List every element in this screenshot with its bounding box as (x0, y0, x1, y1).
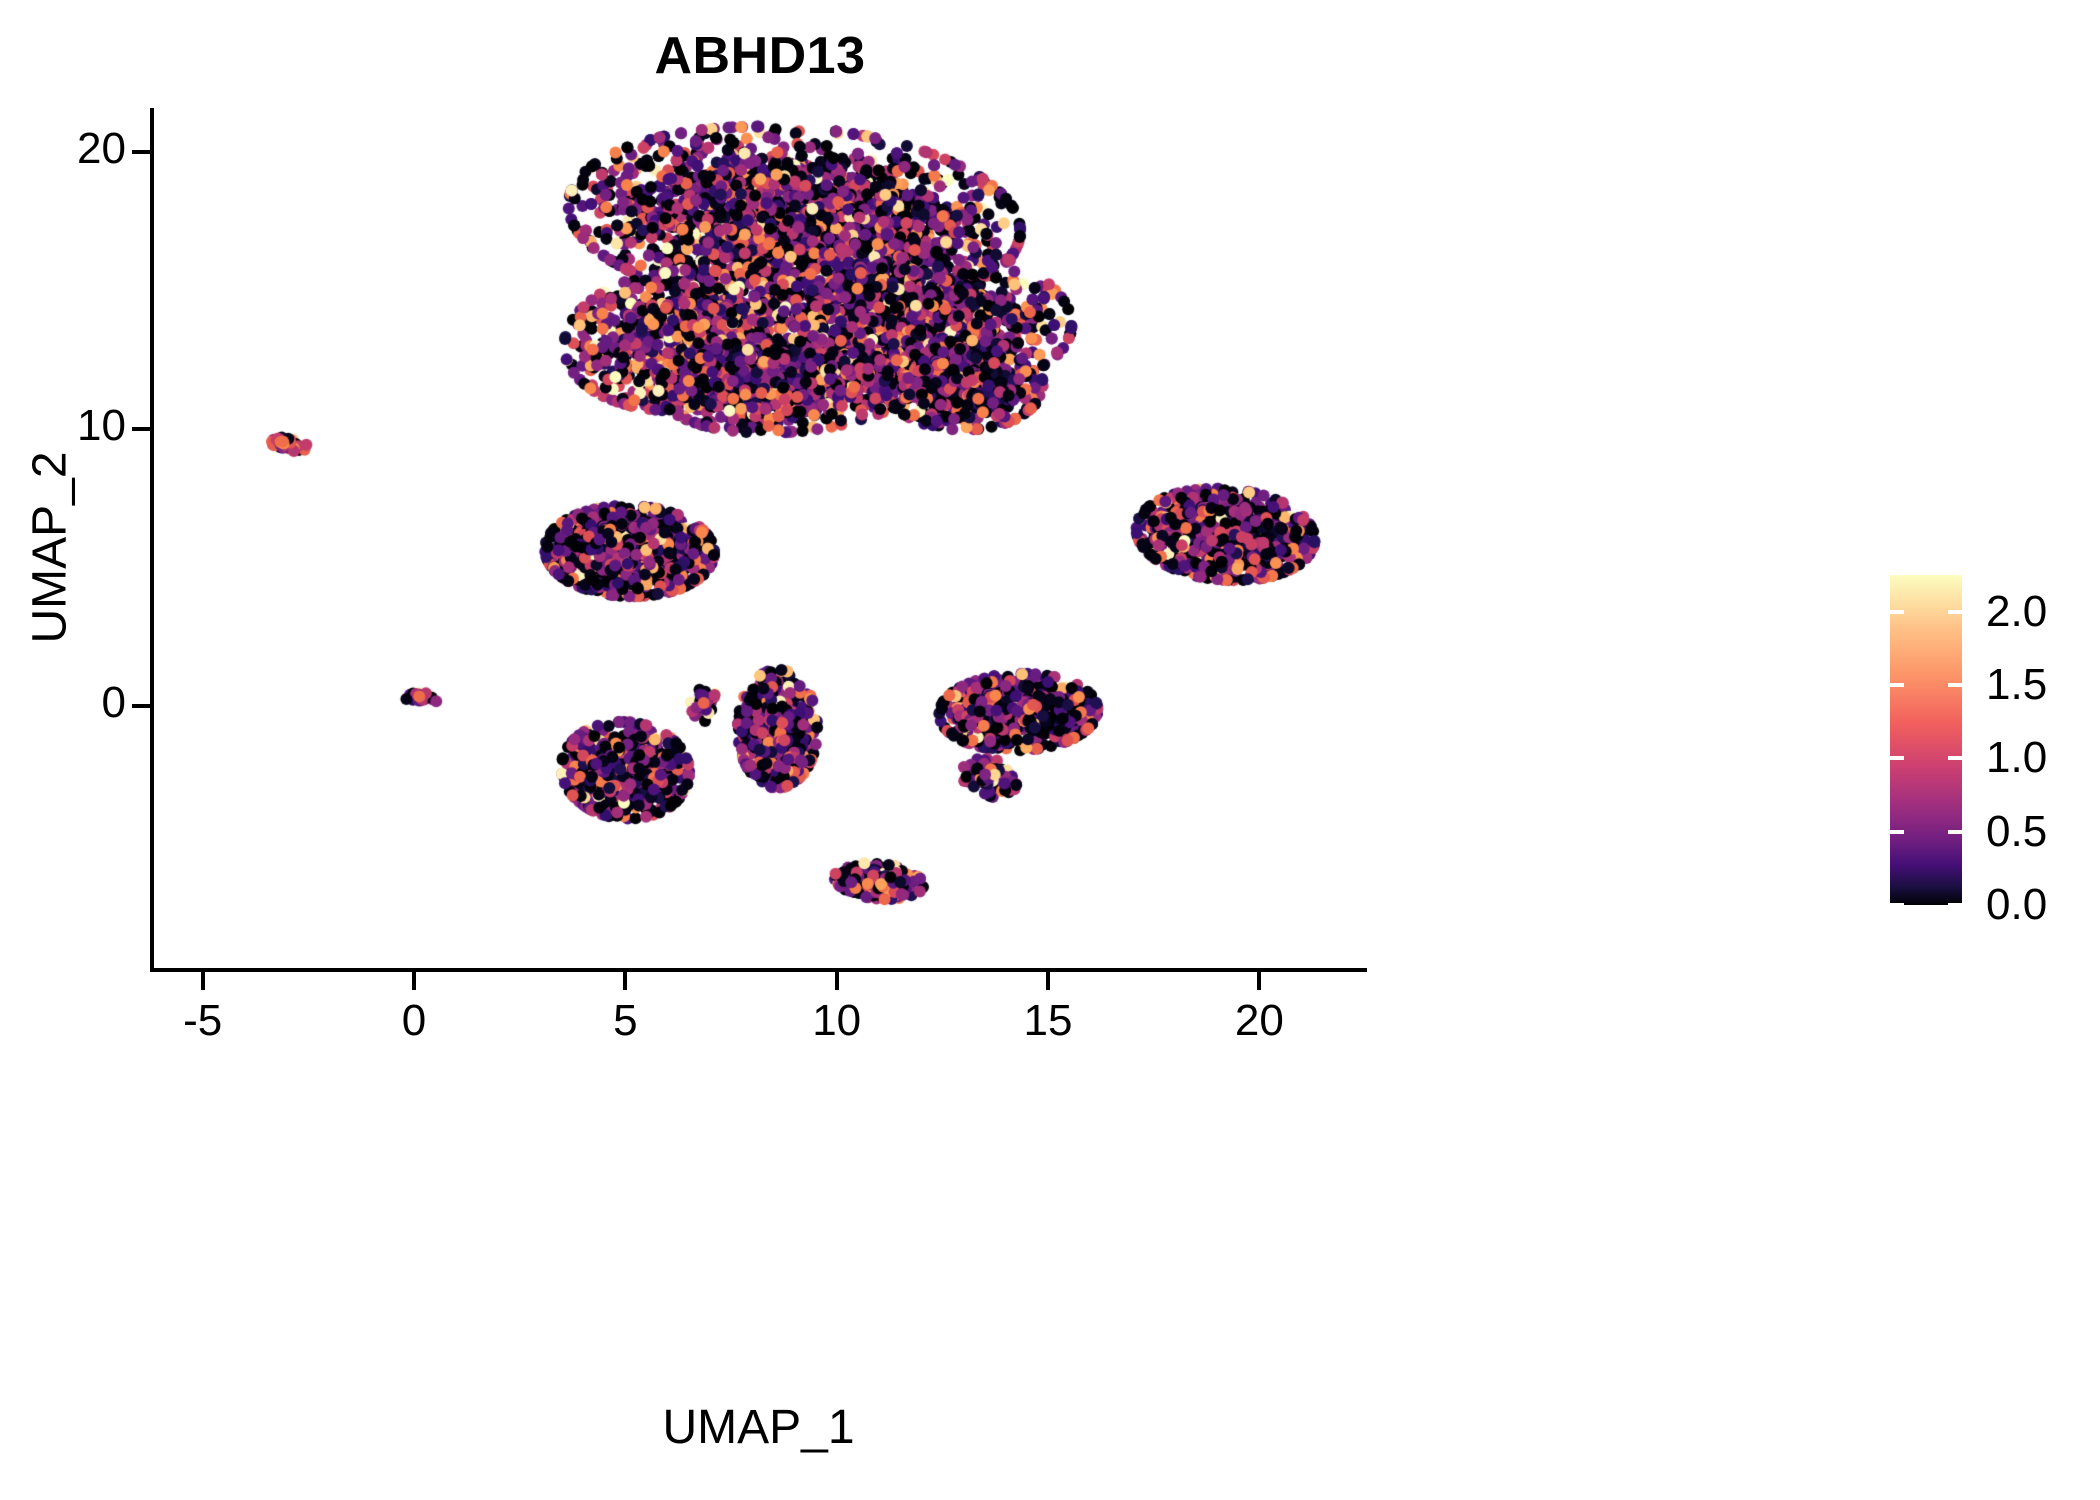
colorbar-tick-label: 1.0 (1986, 733, 2047, 783)
x-tick-mark (412, 972, 416, 990)
colorbar-tick-mark (1890, 610, 1904, 614)
y-tick-mark (132, 427, 150, 431)
y-axis-line (150, 108, 154, 972)
x-tick-label: -5 (133, 996, 273, 1046)
x-axis-title: UMAP_1 (152, 1400, 1365, 1455)
y-tick-mark (132, 704, 150, 708)
x-tick-label: 5 (555, 996, 695, 1046)
y-axis-title: UMAP_2 (23, 198, 78, 898)
x-tick-mark (1257, 972, 1261, 990)
colorbar-tick-label: 0.0 (1986, 880, 2047, 930)
colorbar-tick-mark (1890, 830, 1904, 834)
colorbar-tick-mark (1948, 610, 1962, 614)
x-tick-mark (201, 972, 205, 990)
colorbar-tick-mark (1948, 756, 1962, 760)
x-tick-label: 15 (978, 996, 1118, 1046)
colorbar-tick-label: 1.5 (1986, 660, 2047, 710)
chart-root: ABHD13 01020 -505101520 UMAP_1 UMAP_2 2.… (0, 0, 2100, 1500)
x-tick-mark (623, 972, 627, 990)
colorbar-tick-mark (1890, 903, 1904, 907)
x-tick-label: 20 (1189, 996, 1329, 1046)
y-tick-label: 20 (0, 124, 126, 174)
colorbar-tick-mark (1948, 830, 1962, 834)
x-tick-mark (1046, 972, 1050, 990)
colorbar-tick-mark (1890, 756, 1904, 760)
colorbar-gradient (1890, 575, 1962, 905)
colorbar-tick-mark (1890, 683, 1904, 687)
colorbar-tick-label: 2.0 (1986, 587, 2047, 637)
scatter-plot-canvas (152, 110, 1365, 970)
x-tick-label: 0 (344, 996, 484, 1046)
page-title: ABHD13 (0, 26, 1520, 86)
x-axis-line (150, 968, 1367, 972)
y-tick-mark (132, 150, 150, 154)
colorbar-tick-label: 0.5 (1986, 807, 2047, 857)
colorbar-tick-mark (1948, 683, 1962, 687)
x-tick-mark (835, 972, 839, 990)
colorbar-tick-mark (1948, 903, 1962, 907)
x-tick-label: 10 (767, 996, 907, 1046)
